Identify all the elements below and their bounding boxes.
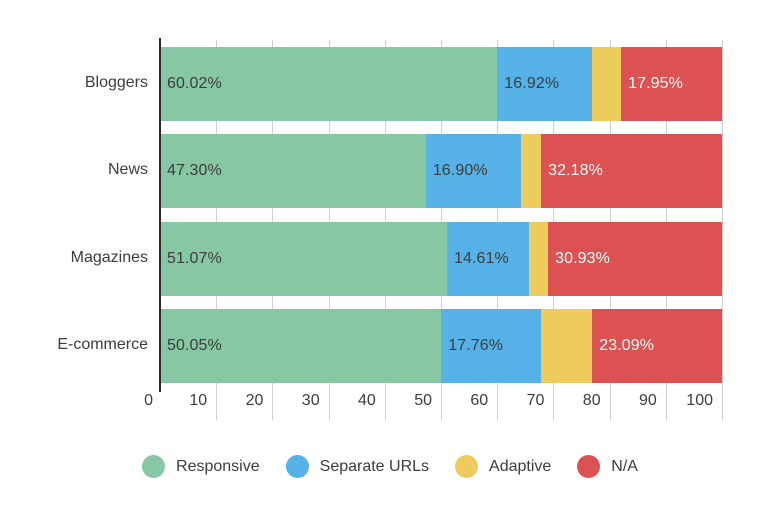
bar-segment-value-label: 30.93% [548,250,610,268]
legend-label: Responsive [176,458,260,476]
bar-rows: 60.02%16.92%17.95%47.30%16.90%32.18%51.0… [160,40,722,390]
category-label-bloggers: Bloggers [0,74,148,92]
x-tick-label-20: 20 [246,392,273,410]
bar-row[interactable]: 50.05%17.76%23.09% [160,309,722,383]
bar-segment-value-label: 51.07% [160,250,222,268]
bar-segment-value-label: 23.09% [592,337,654,355]
x-tick-label-60: 60 [470,392,497,410]
legend-label: N/A [611,458,638,476]
x-tick-label-10: 10 [189,392,216,410]
bar-segment-n-a[interactable]: 30.93% [548,222,722,296]
bar-segment-adaptive[interactable] [529,222,548,296]
bar-segment-value-label: 32.18% [541,162,603,180]
bar-segment-value-label: 14.61% [447,250,509,268]
bar-segment-adaptive[interactable] [541,309,592,383]
plot-area: 60.02%16.92%17.95%47.30%16.90%32.18%51.0… [160,40,722,390]
bar-segment-separate-urls[interactable]: 14.61% [447,222,529,296]
legend: ResponsiveSeparate URLsAdaptiveN/A [0,455,780,478]
bar-row[interactable]: 60.02%16.92%17.95% [160,47,722,121]
bar-segment-value-label: 50.05% [160,337,222,355]
bar-segment-responsive[interactable]: 50.05% [160,309,441,383]
legend-item-n-a[interactable]: N/A [577,455,638,478]
x-tick-label-50: 50 [414,392,441,410]
legend-label: Separate URLs [320,458,429,476]
bar-segment-separate-urls[interactable]: 16.90% [426,134,521,208]
y-axis-line [159,38,161,392]
category-axis-labels: BloggersNewsMagazinesE-commerce [0,40,160,390]
bar-segment-value-label: 16.90% [426,162,488,180]
bar-segment-responsive[interactable]: 60.02% [160,47,497,121]
bar-segment-value-label: 16.92% [497,75,559,93]
bar-segment-n-a[interactable]: 32.18% [541,134,722,208]
legend-label: Adaptive [489,458,551,476]
bar-row[interactable]: 51.07%14.61%30.93% [160,222,722,296]
category-label-news: News [0,161,148,179]
x-tick-label-30: 30 [302,392,329,410]
x-axis-tick-labels: 0102030405060708090100 [0,392,780,422]
x-tick-label-0: 0 [144,392,160,410]
bar-segment-adaptive[interactable] [521,134,541,208]
bar-segment-responsive[interactable]: 47.30% [160,134,426,208]
category-label-e-commerce: E-commerce [0,336,148,354]
x-tick-label-70: 70 [527,392,554,410]
x-tick-label-40: 40 [358,392,385,410]
legend-item-adaptive[interactable]: Adaptive [455,455,551,478]
bar-segment-value-label: 17.95% [621,75,683,93]
bar-segment-adaptive[interactable] [592,47,621,121]
category-label-magazines: Magazines [0,249,148,267]
bar-segment-n-a[interactable]: 17.95% [621,47,722,121]
bar-segment-separate-urls[interactable]: 16.92% [497,47,592,121]
x-tick-label-80: 80 [583,392,610,410]
bar-segment-n-a[interactable]: 23.09% [592,309,722,383]
bar-segment-responsive[interactable]: 51.07% [160,222,447,296]
bar-row[interactable]: 47.30%16.90%32.18% [160,134,722,208]
circle-swatch-icon [286,455,309,478]
x-tick-label-90: 90 [639,392,666,410]
x-tick-label-100: 100 [686,392,722,410]
stacked-bar-chart: 60.02%16.92%17.95%47.30%16.90%32.18%51.0… [0,0,780,525]
legend-item-separate-urls[interactable]: Separate URLs [286,455,429,478]
circle-swatch-icon [577,455,600,478]
bar-segment-value-label: 47.30% [160,162,222,180]
circle-swatch-icon [455,455,478,478]
gridline-100 [722,40,723,390]
circle-swatch-icon [142,455,165,478]
bar-segment-value-label: 17.76% [441,337,503,355]
legend-item-responsive[interactable]: Responsive [142,455,260,478]
bar-segment-separate-urls[interactable]: 17.76% [441,309,541,383]
bar-segment-value-label: 60.02% [160,75,222,93]
